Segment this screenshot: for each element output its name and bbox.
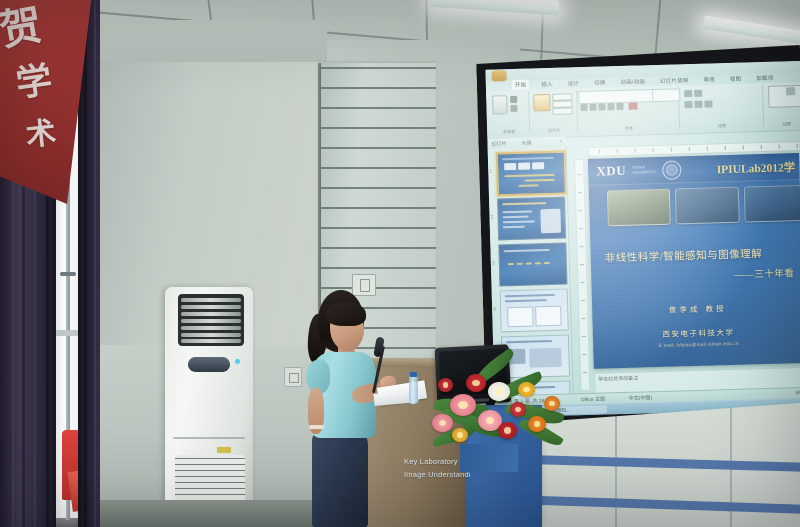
white-lily xyxy=(488,382,510,401)
italic-icon[interactable] xyxy=(589,104,596,111)
numbering-icon[interactable] xyxy=(694,90,702,97)
slide-thumbnail-4[interactable] xyxy=(500,289,569,333)
underline-icon[interactable] xyxy=(598,103,605,110)
theme-name: Office 主题 xyxy=(581,396,606,404)
paste-button[interactable] xyxy=(492,95,508,114)
slide-editing-canvas[interactable]: XDU XIDIAN UNIVERSITY IPIULab2012学 非线性科学… xyxy=(588,153,800,369)
ribbon-group-clipboard-label: 剪贴板 xyxy=(489,129,529,136)
tab-slideshow[interactable]: 幻灯片放映 xyxy=(657,74,692,85)
font-size-input[interactable] xyxy=(652,88,680,102)
office-orb-icon[interactable] xyxy=(491,70,506,81)
zoom-level[interactable]: 66% xyxy=(795,390,800,396)
ac-label-sticker xyxy=(217,447,231,453)
red-carnation xyxy=(466,374,486,392)
align-left-icon[interactable] xyxy=(684,101,692,108)
tab-animations[interactable]: 动画/动画 xyxy=(617,76,648,87)
orange-marigold xyxy=(528,416,546,432)
skirt xyxy=(312,432,368,527)
ribbon-group-clipboard: 剪贴板 xyxy=(488,92,530,135)
bouquet-base xyxy=(460,444,518,472)
ribbon-group-slides-label: 幻灯片 xyxy=(531,127,577,134)
font-name-input[interactable] xyxy=(578,89,656,104)
tab-home[interactable]: 开始 xyxy=(512,79,530,89)
wall-soffit xyxy=(95,20,327,62)
thumbnail-number: 1 xyxy=(489,169,492,175)
tab-outline[interactable]: 大纲 xyxy=(521,139,531,146)
pink-gerbera xyxy=(450,394,476,416)
ribbon-group-paragraph-label: 段落 xyxy=(681,122,763,130)
find-icon[interactable] xyxy=(786,87,795,95)
ribbon-group-slides: 幻灯片 xyxy=(530,90,578,133)
pink-gerbera xyxy=(432,414,453,432)
tab-design[interactable]: 设计 xyxy=(565,78,583,88)
ribbon-group-paragraph: 段落 xyxy=(680,85,764,129)
orange-marigold xyxy=(544,396,560,411)
group-photo xyxy=(675,187,739,225)
flower-bouquet xyxy=(432,352,572,472)
shapes-gallery-icon[interactable] xyxy=(768,85,800,108)
ribbon-group-font-label: 字体 xyxy=(579,124,679,133)
slide-thumbnail-2[interactable] xyxy=(497,197,566,241)
ac-display-panel xyxy=(188,357,230,372)
section-icon[interactable] xyxy=(553,107,573,115)
ribbon-group-drawing-label: 绘图 xyxy=(765,121,800,128)
slide-photo-strip xyxy=(607,185,800,227)
list-item[interactable]: 4 xyxy=(500,289,567,331)
red-carnation xyxy=(498,422,517,439)
ceiling-light-fixture-left xyxy=(431,0,560,15)
slide-thumbnail-1[interactable] xyxy=(496,151,567,197)
language-indicator[interactable]: 中文(中国) xyxy=(629,394,653,402)
text-shadow-icon[interactable] xyxy=(616,103,623,110)
ac-top-vent xyxy=(178,294,244,346)
tab-view[interactable]: 视图 xyxy=(727,73,745,83)
slide-thumbnail-3[interactable] xyxy=(498,243,567,287)
thumbnail-number: 2 xyxy=(490,215,493,221)
tab-insert[interactable]: 插入 xyxy=(538,78,556,88)
presenter-person xyxy=(300,290,395,527)
copy-icon[interactable] xyxy=(510,105,517,112)
thumbnail-number: 4 xyxy=(493,307,496,313)
banner-glyph-3: 术 xyxy=(25,119,58,152)
lab-photo xyxy=(743,185,800,223)
thumbnail-number: 3 xyxy=(492,261,495,267)
new-slide-button[interactable] xyxy=(533,94,550,111)
xdu-subtext-line1: XIDIAN xyxy=(632,165,645,169)
align-center-icon[interactable] xyxy=(694,101,702,108)
red-carnation xyxy=(510,402,526,417)
ac-power-led xyxy=(235,359,240,364)
strikethrough-icon[interactable] xyxy=(607,103,614,110)
xdu-logo-subtext: XIDIAN UNIVERSITY xyxy=(632,165,656,175)
xdu-logo: XDU xyxy=(596,163,626,180)
cut-icon[interactable] xyxy=(510,96,517,103)
list-item[interactable]: 3 xyxy=(498,243,565,285)
banner-glyph-2: 学 xyxy=(14,62,55,103)
window-latch[interactable] xyxy=(60,272,76,276)
red-carnation xyxy=(438,378,453,392)
list-item[interactable]: 2 xyxy=(497,197,564,239)
conference-hall-photo: 开始 插入 设计 切换 动画/动画 幻灯片放映 审阅 视图 加载项 剪贴板 xyxy=(0,0,800,527)
banner-glyph-1: 贺 xyxy=(0,5,45,54)
slide-presenter-name: 焦李成 教授 xyxy=(592,301,800,318)
xdu-subtext-line2: UNIVERSITY xyxy=(632,170,656,175)
tab-review[interactable]: 审阅 xyxy=(700,74,718,84)
close-panel-icon[interactable]: × xyxy=(559,139,562,145)
align-right-icon[interactable] xyxy=(704,100,712,107)
slide-title-text: 非线性科学/智能感知与图像理解 xyxy=(605,245,794,265)
ceiling-light-fixture-right xyxy=(703,15,800,45)
ac-panel-seam xyxy=(173,437,245,439)
bottle-cap xyxy=(410,372,417,377)
ipiu-lab-banner-text: IPIULab2012学 xyxy=(716,159,795,177)
water-bottle xyxy=(409,376,418,404)
bullets-icon[interactable] xyxy=(684,90,692,97)
hair-fringe xyxy=(326,302,366,326)
font-color-icon[interactable] xyxy=(628,103,637,110)
yellow-marigold xyxy=(452,428,468,442)
floor-standing-air-conditioner xyxy=(165,287,253,527)
campus-gate-photo xyxy=(607,189,671,227)
bracelet xyxy=(309,425,324,429)
bold-icon[interactable] xyxy=(580,104,587,111)
tab-addins[interactable]: 加载项 xyxy=(753,72,776,83)
tab-slides[interactable]: 幻灯片 xyxy=(491,140,506,147)
tab-transitions[interactable]: 切换 xyxy=(591,77,609,87)
slide-subtitle-text: ——三十年看 xyxy=(734,265,794,281)
list-item[interactable]: 1 xyxy=(496,151,563,193)
yellow-marigold xyxy=(518,382,535,397)
